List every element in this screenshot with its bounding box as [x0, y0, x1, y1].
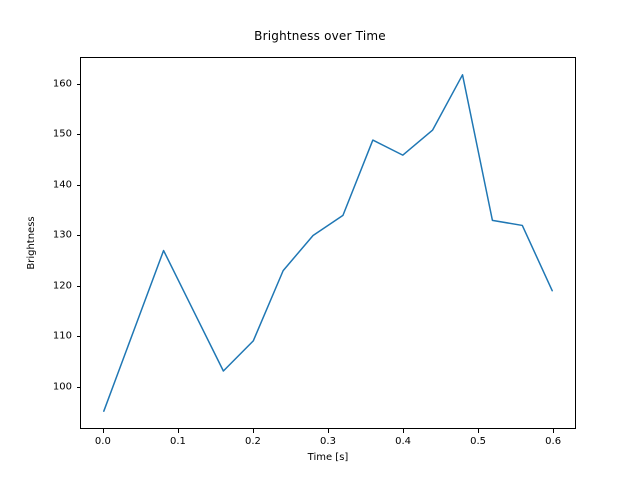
y-tick-label: 100: [40, 381, 72, 392]
data-series-svg: [81, 58, 575, 428]
matplotlib-figure: Brightness over Time Brightness Time [s]…: [0, 0, 640, 480]
x-tick-label: 0.5: [470, 436, 486, 447]
y-tick-label: 150: [40, 129, 72, 140]
x-tick-mark: [553, 429, 554, 433]
x-tick-mark: [478, 429, 479, 433]
x-axis-label: Time [s]: [80, 452, 576, 463]
x-tick-mark: [328, 429, 329, 433]
x-tick-label: 0.2: [245, 436, 261, 447]
x-tick-mark: [103, 429, 104, 433]
y-tick-label: 130: [40, 230, 72, 241]
x-tick-mark: [178, 429, 179, 433]
x-tick-label: 0.6: [545, 436, 561, 447]
x-tick-mark: [403, 429, 404, 433]
x-tick-label: 0.3: [320, 436, 336, 447]
y-tick-label: 120: [40, 280, 72, 291]
y-axis-label: Brightness: [26, 57, 37, 429]
x-tick-mark: [253, 429, 254, 433]
plot-area: [80, 57, 576, 429]
x-tick-label: 0.0: [95, 436, 111, 447]
x-tick-label: 0.4: [395, 436, 411, 447]
brightness-line: [104, 75, 552, 411]
y-tick-label: 140: [40, 179, 72, 190]
page-title: Brightness over Time: [0, 29, 640, 43]
y-tick-label: 110: [40, 331, 72, 342]
x-tick-label: 0.1: [170, 436, 186, 447]
y-tick-label: 160: [40, 79, 72, 90]
